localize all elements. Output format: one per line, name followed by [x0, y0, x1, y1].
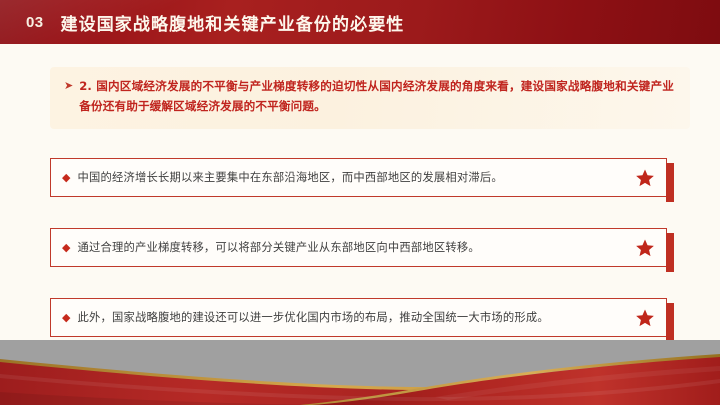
arrow-right-triangle-icon: ➤	[64, 77, 73, 94]
diamond-icon: ◆	[62, 312, 70, 323]
star-icon	[634, 237, 656, 259]
card-right-accent-bar	[666, 233, 674, 272]
note-text: 2. 国内区域经济发展的不平衡与产业梯度转移的迫切性从国内经济发展的角度来看，建…	[79, 77, 674, 116]
card-text: 中国的经济增长长期以来主要集中在东部沿海地区，而中西部地区的发展相对滞后。	[77, 170, 628, 186]
slide-header-bar: 03 建设国家战略腹地和关键产业备份的必要性	[0, 0, 720, 44]
card-text: 此外，国家战略腹地的建设还可以进一步优化国内市场的布局，推动全国统一大市场的形成…	[77, 310, 628, 326]
content-card[interactable]: ◆ 通过合理的产业梯度转移，可以将部分关键产业从东部地区向中西部地区转移。	[50, 228, 667, 267]
star-icon	[634, 307, 656, 329]
page-title: 建设国家战略腹地和关键产业备份的必要性	[61, 10, 405, 35]
footer-ribbon-decoration	[0, 340, 720, 405]
note-callout-box: ➤ 2. 国内区域经济发展的不平衡与产业梯度转移的迫切性从国内经济发展的角度来看…	[50, 67, 690, 129]
card-right-accent-bar	[666, 303, 674, 342]
slide: 03 建设国家战略腹地和关键产业备份的必要性 ➤ 2. 国内区域经济发展的不平衡…	[0, 0, 720, 405]
section-number: 03	[26, 14, 44, 31]
content-card[interactable]: ◆ 中国的经济增长长期以来主要集中在东部沿海地区，而中西部地区的发展相对滞后。	[50, 158, 667, 197]
content-card[interactable]: ◆ 此外，国家战略腹地的建设还可以进一步优化国内市场的布局，推动全国统一大市场的…	[50, 298, 667, 337]
card-right-accent-bar	[666, 163, 674, 202]
diamond-icon: ◆	[62, 172, 70, 183]
card-text: 通过合理的产业梯度转移，可以将部分关键产业从东部地区向中西部地区转移。	[77, 240, 628, 256]
diamond-icon: ◆	[62, 242, 70, 253]
header-content: 03 建设国家战略腹地和关键产业备份的必要性	[26, 0, 404, 44]
star-icon	[634, 167, 656, 189]
